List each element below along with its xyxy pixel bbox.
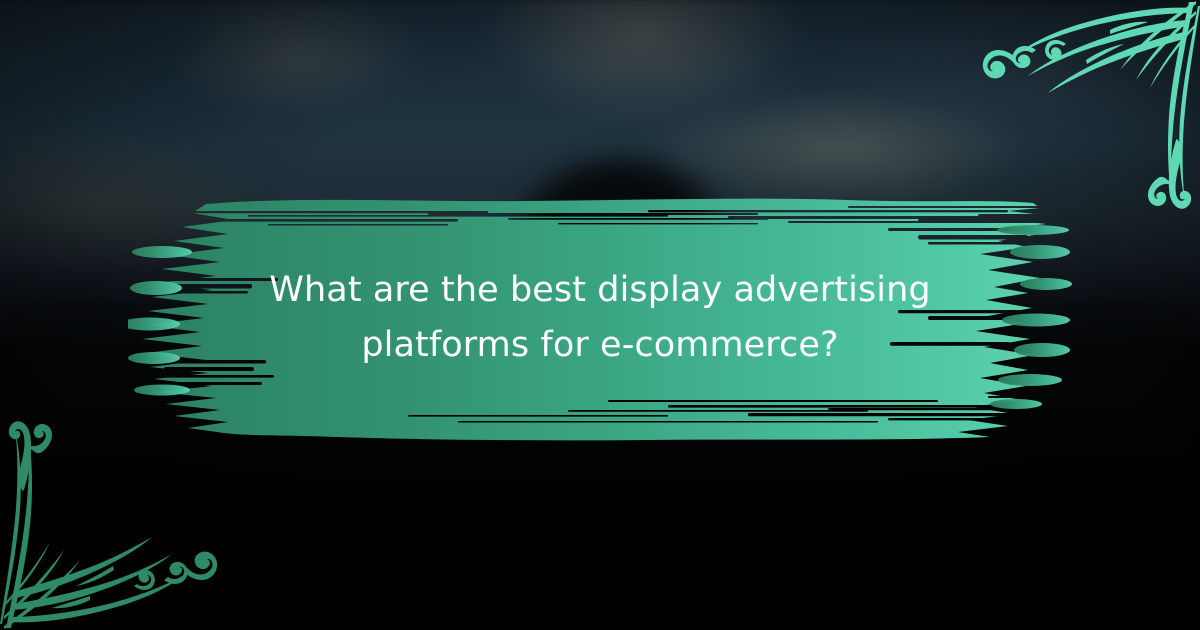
social-card: What are the best display advertising pl… (0, 0, 1200, 630)
headline-line-2: platforms for e-commerce? (361, 318, 838, 373)
headline: What are the best display advertising pl… (128, 192, 1072, 444)
headline-line-1: What are the best display advertising (269, 263, 930, 318)
